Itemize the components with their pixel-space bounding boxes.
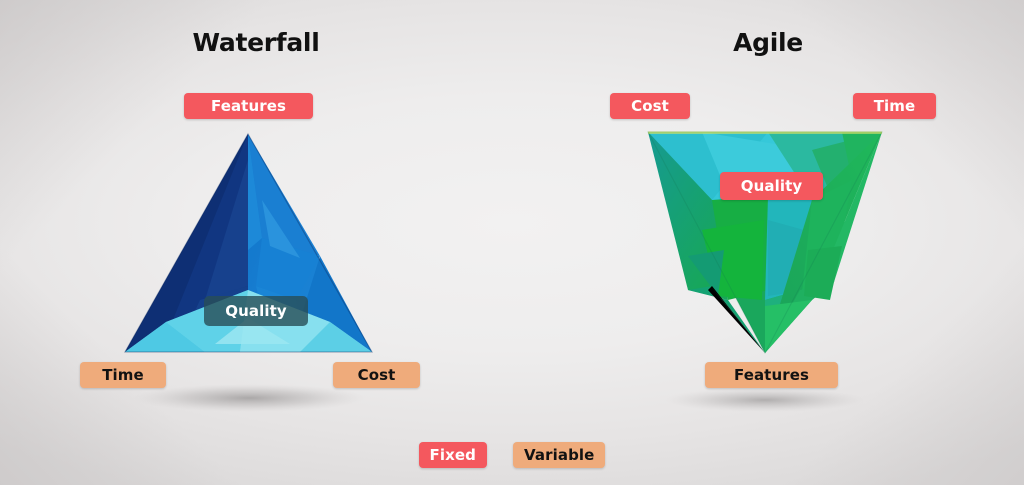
agile-facets [648,132,882,353]
agile-ground-shadow [665,388,865,412]
waterfall-badge-quality-label: Quality [225,302,286,320]
agile-badge-quality[interactable]: Quality [720,172,823,200]
agile-badge-time-label: Time [874,97,916,115]
waterfall-badge-time-label: Time [102,366,144,384]
agile-triangle-stage: Cost Time Features Quality [512,0,1024,425]
waterfall-badge-quality[interactable]: Quality [204,296,308,326]
legend-item-variable[interactable]: Variable [513,442,605,468]
agile-badge-time[interactable]: Time [853,93,936,119]
waterfall-badge-features[interactable]: Features [184,93,313,119]
legend-item-variable-label: Variable [524,446,594,464]
waterfall-panel: Waterfall [0,0,512,425]
waterfall-badge-cost[interactable]: Cost [333,362,420,388]
agile-badge-features[interactable]: Features [705,362,838,388]
legend: Fixed Variable [0,442,1024,468]
agile-badge-quality-label: Quality [741,177,802,195]
agile-badge-cost-label: Cost [631,97,669,115]
iron-triangle-diagram: Waterfall [0,0,1024,485]
waterfall-triangle [0,0,512,425]
waterfall-ground-shadow [133,384,365,412]
legend-item-fixed-label: Fixed [430,446,476,464]
agile-badge-features-label: Features [734,366,809,384]
waterfall-badge-cost-label: Cost [358,366,396,384]
waterfall-badge-features-label: Features [211,97,286,115]
agile-panel: Agile [512,0,1024,425]
legend-item-fixed[interactable]: Fixed [419,442,487,468]
waterfall-triangle-stage: Features Time Cost Quality [0,0,512,425]
agile-badge-cost[interactable]: Cost [610,93,690,119]
waterfall-badge-time[interactable]: Time [80,362,166,388]
